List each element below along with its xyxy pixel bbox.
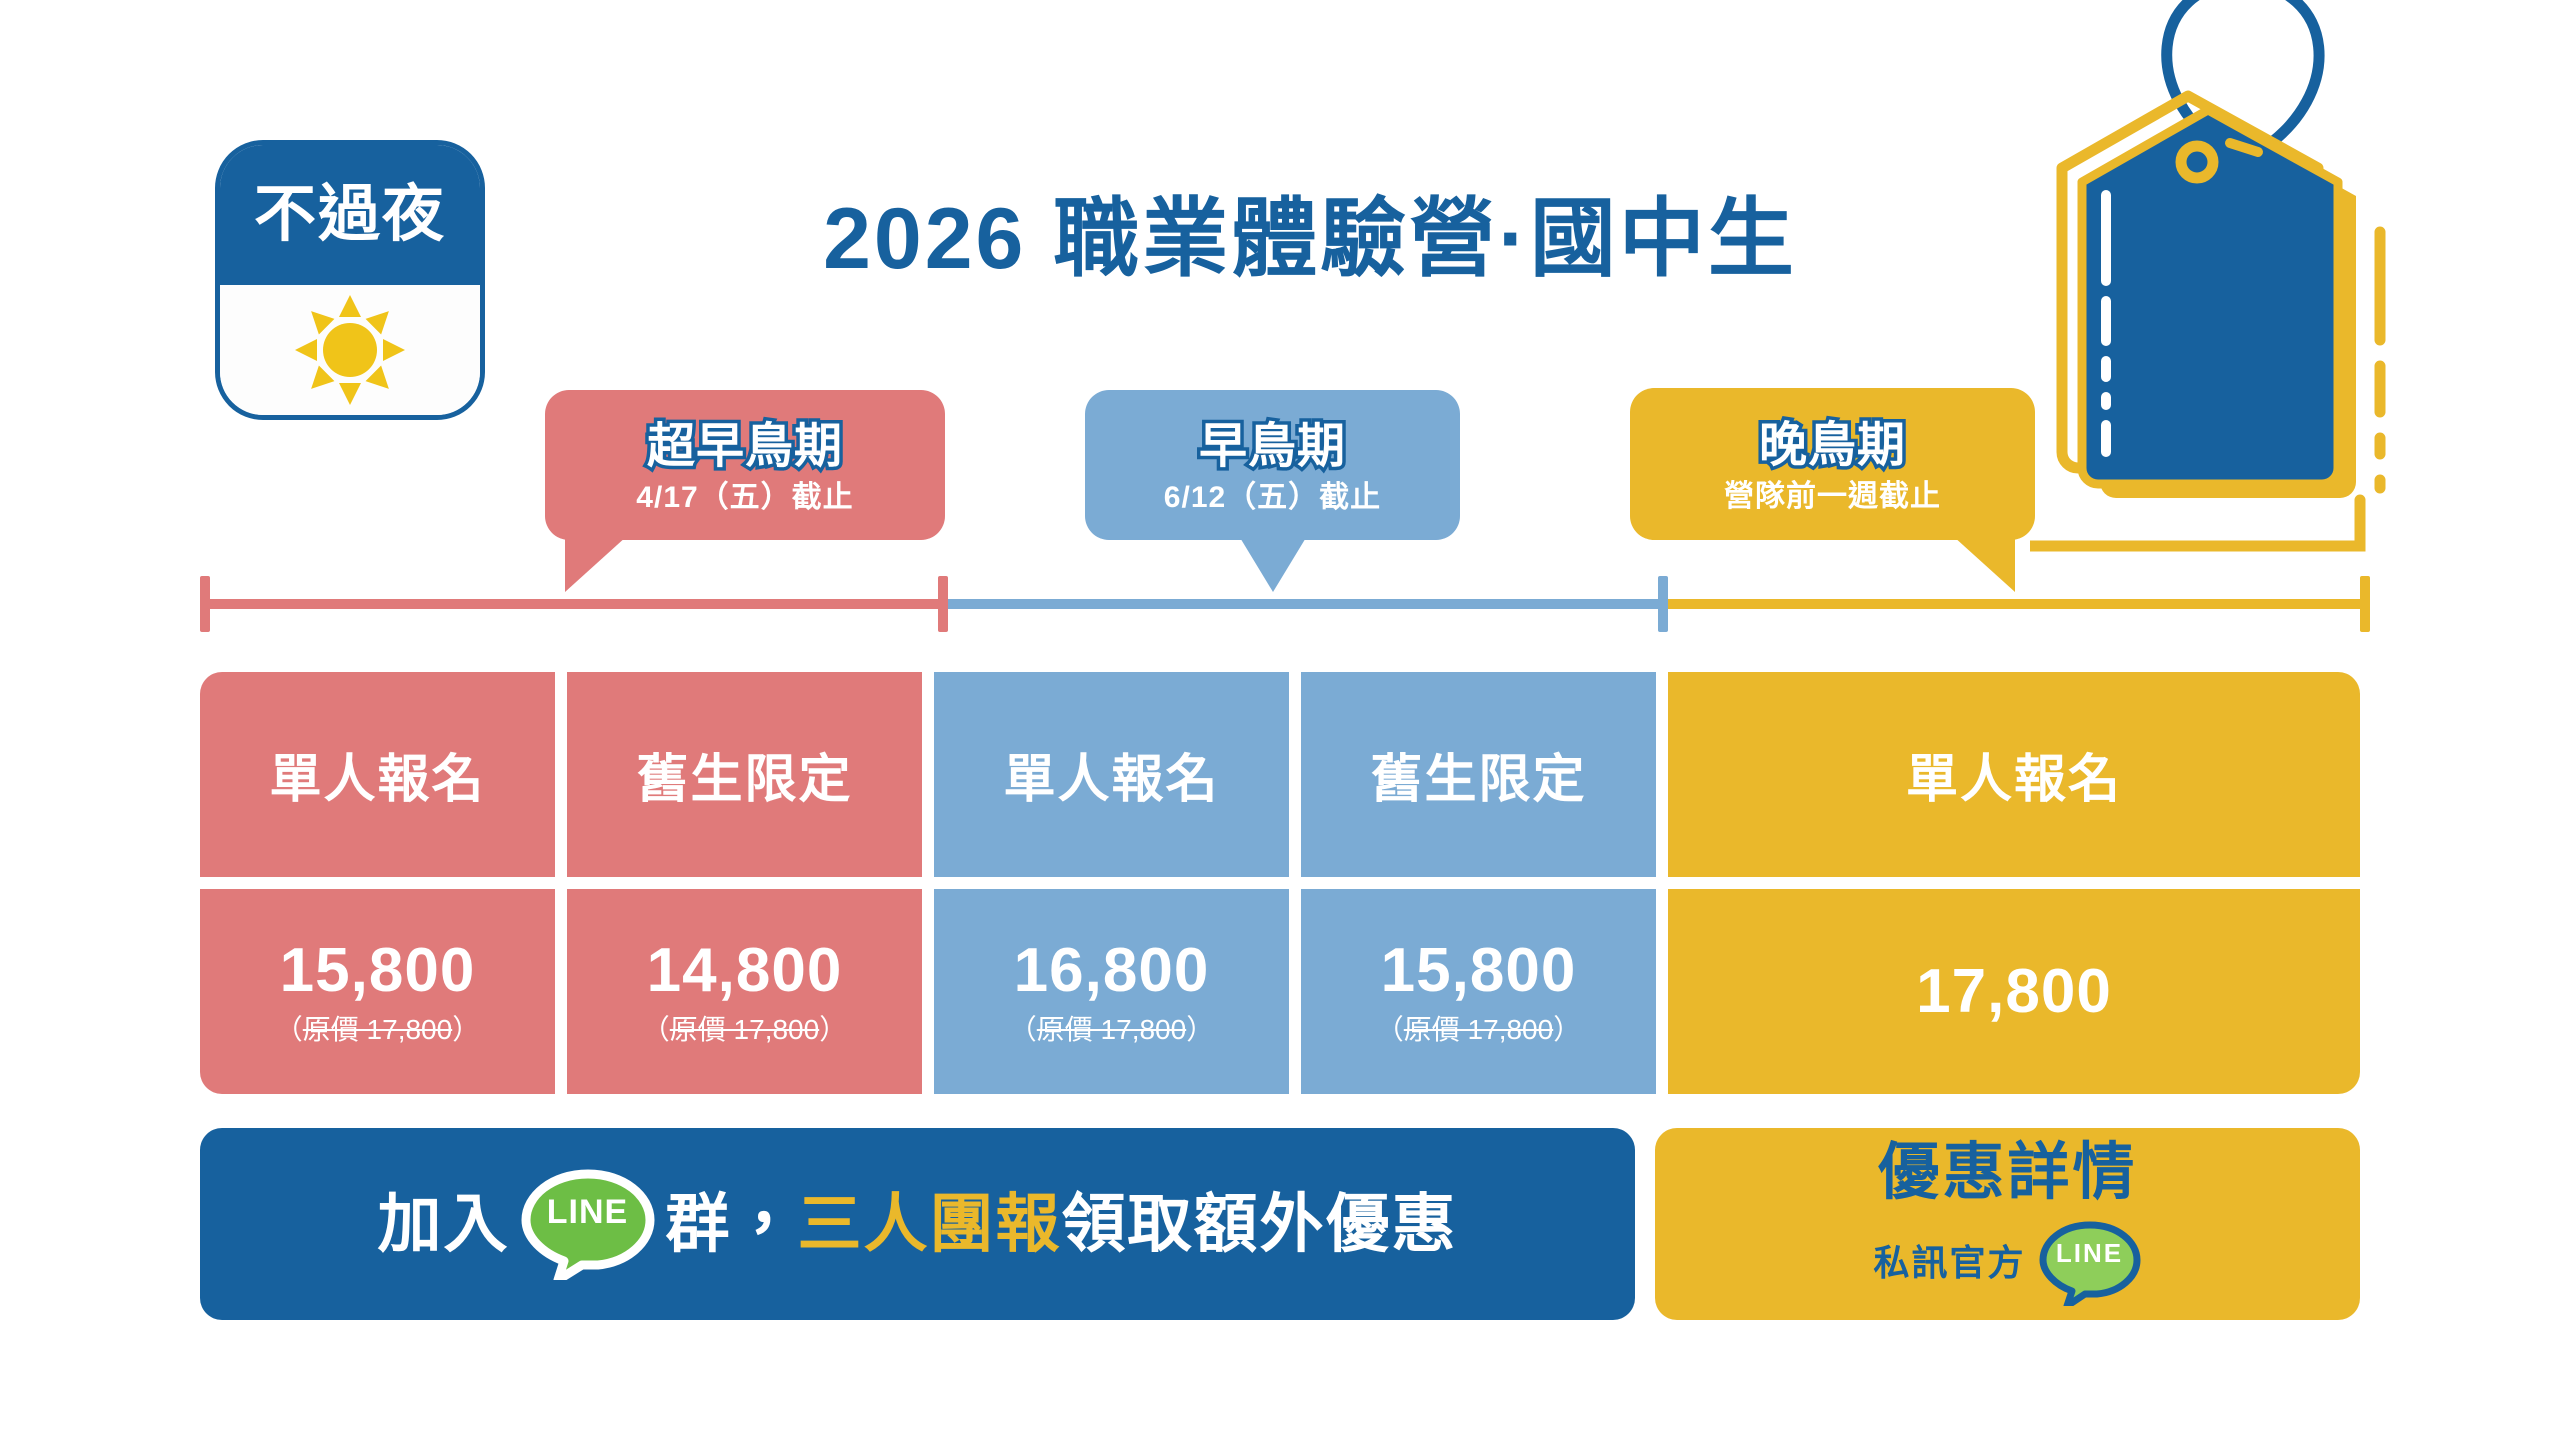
- overnight-badge: 不過夜: [215, 140, 485, 420]
- pricing-column-super-early-single: 單人報名 15,800 （原價 17,800）: [200, 672, 555, 1094]
- line-logo-label: LINE: [520, 1168, 656, 1255]
- original-price: （原價 17,800）: [1009, 1016, 1214, 1044]
- price-value: 15,800: [1381, 940, 1577, 1002]
- period-name-late: 晚鳥期: [1759, 422, 1906, 470]
- period-name-super-early: 超早鳥期: [647, 423, 843, 471]
- price-tag-graphic: [2030, 0, 2460, 620]
- paren-close: ）: [452, 1014, 480, 1045]
- promo-detail-subtitle: 私訊官方: [1873, 1245, 2025, 1281]
- promo-detail-banner[interactable]: 優惠詳情 私訊官方 LINE: [1655, 1128, 2360, 1320]
- original-price: （原價 17,800）: [275, 1016, 480, 1044]
- table-price-cell: 15,800 （原價 17,800）: [1301, 889, 1656, 1094]
- original-price: （原價 17,800）: [1376, 1016, 1581, 1044]
- promo-detail-title: 優惠詳情: [1877, 1142, 2137, 1204]
- period-badge-early: 早鳥期 6/12（五）截止: [1085, 390, 1460, 540]
- period-badge-super-early: 超早鳥期 4/17（五）截止: [545, 390, 945, 540]
- overnight-badge-icon-area: [220, 285, 480, 415]
- table-price-cell: 17,800: [1668, 889, 2360, 1094]
- line-logo-label: LINE: [2038, 1220, 2142, 1285]
- infographic-canvas: 不過夜 2026 職業體驗營·國中生: [0, 0, 2560, 1440]
- paren-open: （: [642, 1014, 670, 1045]
- timeline-tick-end: [2360, 576, 2370, 632]
- original-price-text: 原價 17,800: [1404, 1014, 1553, 1045]
- header-text: 單人報名: [269, 737, 485, 812]
- header-text: 舊生限定: [636, 737, 852, 812]
- period-deadline-early: 6/12（五）截止: [1164, 483, 1381, 513]
- paren-open: （: [1009, 1014, 1037, 1045]
- timeline-tick-early-end: [1658, 576, 1668, 632]
- header-text: 單人報名: [1906, 737, 2122, 812]
- table-header-cell: 單人報名: [200, 672, 555, 877]
- price-value: 16,800: [1014, 940, 1210, 1002]
- table-header-cell: 單人報名: [1668, 672, 2360, 877]
- original-price-text: 原價 17,800: [303, 1014, 452, 1045]
- table-header-cell: 舊生限定: [1301, 672, 1656, 877]
- period-deadline-super-early: 4/17（五）截止: [636, 483, 853, 513]
- original-price-text: 原價 17,800: [1037, 1014, 1186, 1045]
- timeline-segment-early: [948, 599, 1668, 609]
- header-text: 單人報名: [1003, 737, 1219, 812]
- line-cta-text-after: 領取額外優惠: [1062, 1192, 1458, 1256]
- timeline-segment-late: [1668, 599, 2370, 609]
- pricing-column-early-returning: 舊生限定 15,800 （原價 17,800）: [1301, 672, 1656, 1094]
- line-cta-highlight: 三人團報: [798, 1192, 1062, 1256]
- table-header-cell: 舊生限定: [567, 672, 922, 877]
- paren-close: ）: [1186, 1014, 1214, 1045]
- original-price-text: 原價 17,800: [670, 1014, 819, 1045]
- timeline-segment-super-early: [200, 599, 948, 609]
- table-price-cell: 16,800 （原價 17,800）: [934, 889, 1289, 1094]
- line-cta-text: 加入 LINE 群， 三人團報 領取額外優惠: [378, 1168, 1458, 1280]
- period-deadline-late: 營隊前一週截止: [1724, 482, 1941, 512]
- paren-close: ）: [819, 1014, 847, 1045]
- line-logo-icon: LINE: [520, 1168, 656, 1280]
- pricing-column-super-early-returning: 舊生限定 14,800 （原價 17,800）: [567, 672, 922, 1094]
- paren-open: （: [275, 1014, 303, 1045]
- price-value: 14,800: [647, 940, 843, 1002]
- sun-core: [323, 323, 377, 377]
- overnight-badge-label: 不過夜: [254, 184, 446, 246]
- overnight-badge-label-area: 不過夜: [220, 145, 480, 285]
- timeline-tick-super-early-end: [938, 576, 948, 632]
- original-price: （原價 17,800）: [642, 1016, 847, 1044]
- period-name-early: 早鳥期: [1199, 423, 1346, 471]
- timeline-tick-start: [200, 576, 210, 632]
- line-logo-icon: LINE: [2038, 1220, 2142, 1306]
- period-badge-late: 晚鳥期 營隊前一週截止: [1630, 388, 2035, 540]
- header-text: 舊生限定: [1370, 737, 1586, 812]
- price-value: 15,800: [280, 940, 476, 1002]
- table-price-cell: 15,800 （原價 17,800）: [200, 889, 555, 1094]
- tag-baseline: [2030, 500, 2360, 546]
- promo-detail-subtitle-row: 私訊官方 LINE: [1873, 1220, 2141, 1306]
- paren-open: （: [1376, 1014, 1404, 1045]
- pricing-column-late-single: 單人報名 17,800: [1668, 672, 2360, 1094]
- line-cta-text-before: 加入: [378, 1192, 510, 1256]
- timeline: [200, 568, 2370, 640]
- table-header-cell: 單人報名: [934, 672, 1289, 877]
- line-group-cta-banner[interactable]: 加入 LINE 群， 三人團報 領取額外優惠: [200, 1128, 1635, 1320]
- price-value: 17,800: [1916, 961, 2112, 1023]
- paren-close: ）: [1553, 1014, 1581, 1045]
- sun-icon: [295, 295, 405, 405]
- table-price-cell: 14,800 （原價 17,800）: [567, 889, 922, 1094]
- pricing-column-early-single: 單人報名 16,800 （原價 17,800）: [934, 672, 1289, 1094]
- price-tag-ornament: 價 目 表: [2030, 0, 2460, 620]
- line-cta-text-middle: 群，: [666, 1192, 798, 1256]
- page-title: 2026 職業體驗營·國中生: [600, 170, 2020, 290]
